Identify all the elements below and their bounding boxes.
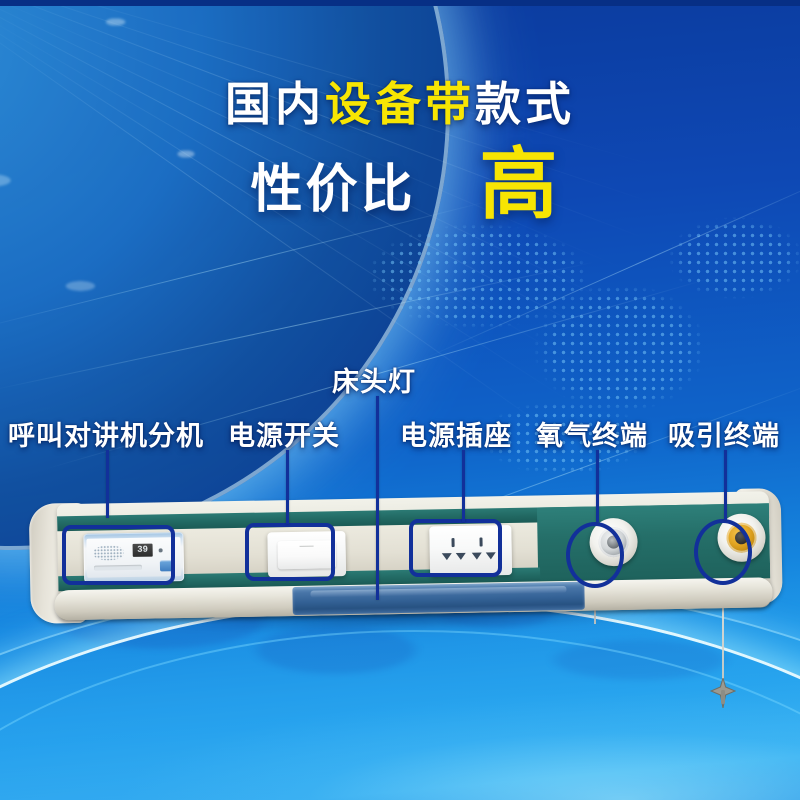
leader-line-power-socket xyxy=(462,450,465,522)
leader-line-oxygen xyxy=(596,450,599,522)
headline-text-domestic: 国内 xyxy=(225,78,325,130)
headline-text-highlight: 设备带 xyxy=(325,78,475,130)
product-banner: 国内设备带款式 性价比 高 呼叫对讲机分机 电源开关 床头灯 电源插座 氧气终端… xyxy=(0,0,800,800)
leader-line-intercom xyxy=(106,450,109,518)
callout-label-intercom: 呼叫对讲机分机 xyxy=(8,414,204,453)
callout-label-suction: 吸引终端 xyxy=(668,414,780,453)
headline-block: 国内设备带款式 性价比 高 xyxy=(0,78,800,222)
headline-emphasis-high: 高 xyxy=(480,147,560,221)
leader-line-power-switch xyxy=(286,450,289,524)
headline-line-2: 性价比 高 xyxy=(0,147,800,222)
headline-line-1: 国内设备带款式 xyxy=(0,78,800,131)
callout-label-oxygen: 氧气终端 xyxy=(536,414,648,453)
callout-label-power-switch: 电源开关 xyxy=(228,414,340,453)
leader-line-suction xyxy=(724,450,727,520)
leader-line-bed-lamp xyxy=(376,396,379,600)
callout-label-bed-lamp: 床头灯 xyxy=(332,360,416,399)
headline-text-style: 款式 xyxy=(475,78,575,130)
headline-value-text: 性价比 xyxy=(250,147,415,222)
callout-label-power-socket: 电源插座 xyxy=(400,414,512,453)
